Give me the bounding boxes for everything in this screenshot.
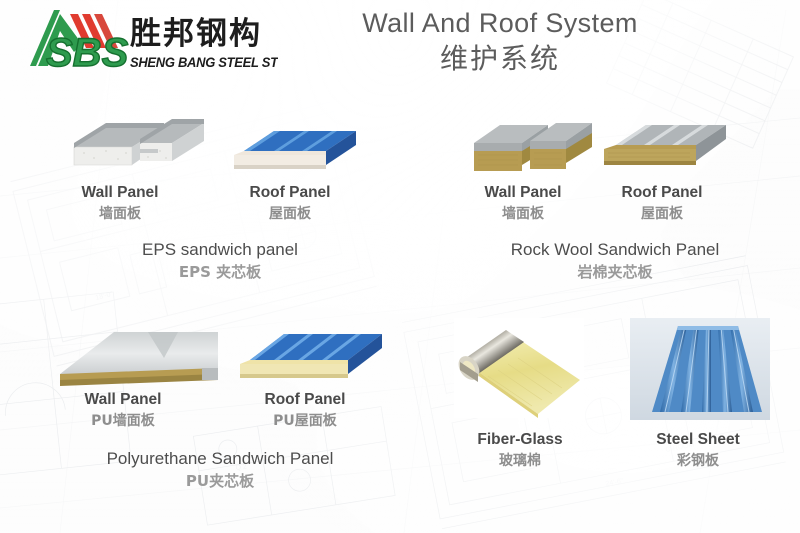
company-logo[interactable]: SBS 胜邦钢构 SHENG BANG STEEL STRUCTURE — [8, 4, 278, 76]
label-cn: PU屋面板 — [230, 410, 380, 432]
pu-group-title-en: Polyurethane Sandwich Panel — [40, 448, 400, 470]
rockwool-roof-panel-label: Roof Panel 屋面板 — [592, 183, 732, 225]
label-cn: 屋面板 — [592, 203, 732, 225]
eps-group-title-cn: EPS 夹芯板 — [40, 261, 400, 283]
eps-group-title-en: EPS sandwich panel — [40, 239, 400, 261]
label-en: Roof Panel — [592, 183, 732, 203]
steel-sheet-label: Steel Sheet 彩钢板 — [628, 430, 768, 472]
label-cn: 墙面板 — [458, 203, 588, 225]
label-cn: 屋面板 — [220, 203, 360, 225]
materials-group: Fiber-Glass 玻璃棉 Steel Sheet 彩钢板 — [440, 318, 790, 478]
logo-sbs-text: SBS — [46, 31, 129, 75]
pu-group-title-cn: PU夹芯板 — [40, 470, 400, 492]
svg-text:胜邦钢构: 胜邦钢构 — [130, 16, 262, 52]
eps-roof-panel-image — [230, 121, 360, 183]
label-cn: 玻璃棉 — [450, 450, 590, 472]
label-en: Wall Panel — [458, 183, 588, 203]
svg-text:18'-0": 18'-0" — [95, 291, 114, 302]
rockwool-wall-panel-image — [470, 115, 595, 183]
label-en: Wall Panel — [48, 390, 198, 410]
pu-wall-panel-image — [52, 324, 222, 390]
title-chinese: 维护系统 — [300, 40, 700, 78]
label-cn: 墙面板 — [50, 203, 190, 225]
rockwool-wall-panel-label: Wall Panel 墙面板 — [458, 183, 588, 225]
logo-chinese-text: 胜邦钢构 — [130, 16, 262, 52]
fiber-glass-label: Fiber-Glass 玻璃棉 — [450, 430, 590, 472]
rock-wool-sandwich-panel-group: Wall Panel 墙面板 Roof Panel 屋面板 Rock Wool … — [440, 105, 790, 283]
label-cn: 彩钢板 — [628, 450, 768, 472]
logo-english-strapline: SHENG BANG STEEL STRUCTURE — [130, 55, 278, 70]
svg-text:SBS: SBS — [46, 31, 129, 75]
eps-wall-panel-label: Wall Panel 墙面板 — [50, 183, 190, 225]
label-en: Fiber-Glass — [450, 430, 590, 450]
steel-sheet-image — [630, 318, 770, 426]
eps-wall-panel-image — [68, 113, 208, 183]
fiber-glass-roll-image — [454, 318, 584, 426]
label-en: Roof Panel — [220, 183, 360, 203]
slide-canvas: GARAGE 18'-0" FAMILY RM C-ROOM Q 2 24'-6… — [0, 0, 800, 533]
polyurethane-sandwich-panel-group: Wall Panel PU墙面板 Roof Panel PU屋面板 Polyur… — [40, 318, 400, 492]
svg-text:SHENG BANG STEEL STRUCTURE: SHENG BANG STEEL STRUCTURE — [130, 55, 278, 70]
label-en: Steel Sheet — [628, 430, 768, 450]
pu-roof-panel-label: Roof Panel PU屋面板 — [230, 390, 380, 432]
label-en: Roof Panel — [230, 390, 380, 410]
label-cn: PU墙面板 — [48, 410, 198, 432]
title-english: Wall And Roof System — [300, 6, 700, 40]
eps-sandwich-panel-group: Wall Panel 墙面板 Roof Panel 屋面板 EPS sandwi… — [40, 105, 400, 283]
label-en: Wall Panel — [50, 183, 190, 203]
pu-wall-panel-label: Wall Panel PU墙面板 — [48, 390, 198, 432]
eps-roof-panel-label: Roof Panel 屋面板 — [220, 183, 360, 225]
svg-text:24'-6": 24'-6" — [605, 478, 624, 488]
slide-title-block: Wall And Roof System 维护系统 — [300, 6, 700, 78]
rockwool-group-title-en: Rock Wool Sandwich Panel — [440, 239, 790, 261]
pu-roof-panel-image — [236, 326, 386, 390]
rockwool-group-title-cn: 岩棉夹芯板 — [440, 261, 790, 283]
rockwool-roof-panel-image — [598, 117, 728, 181]
